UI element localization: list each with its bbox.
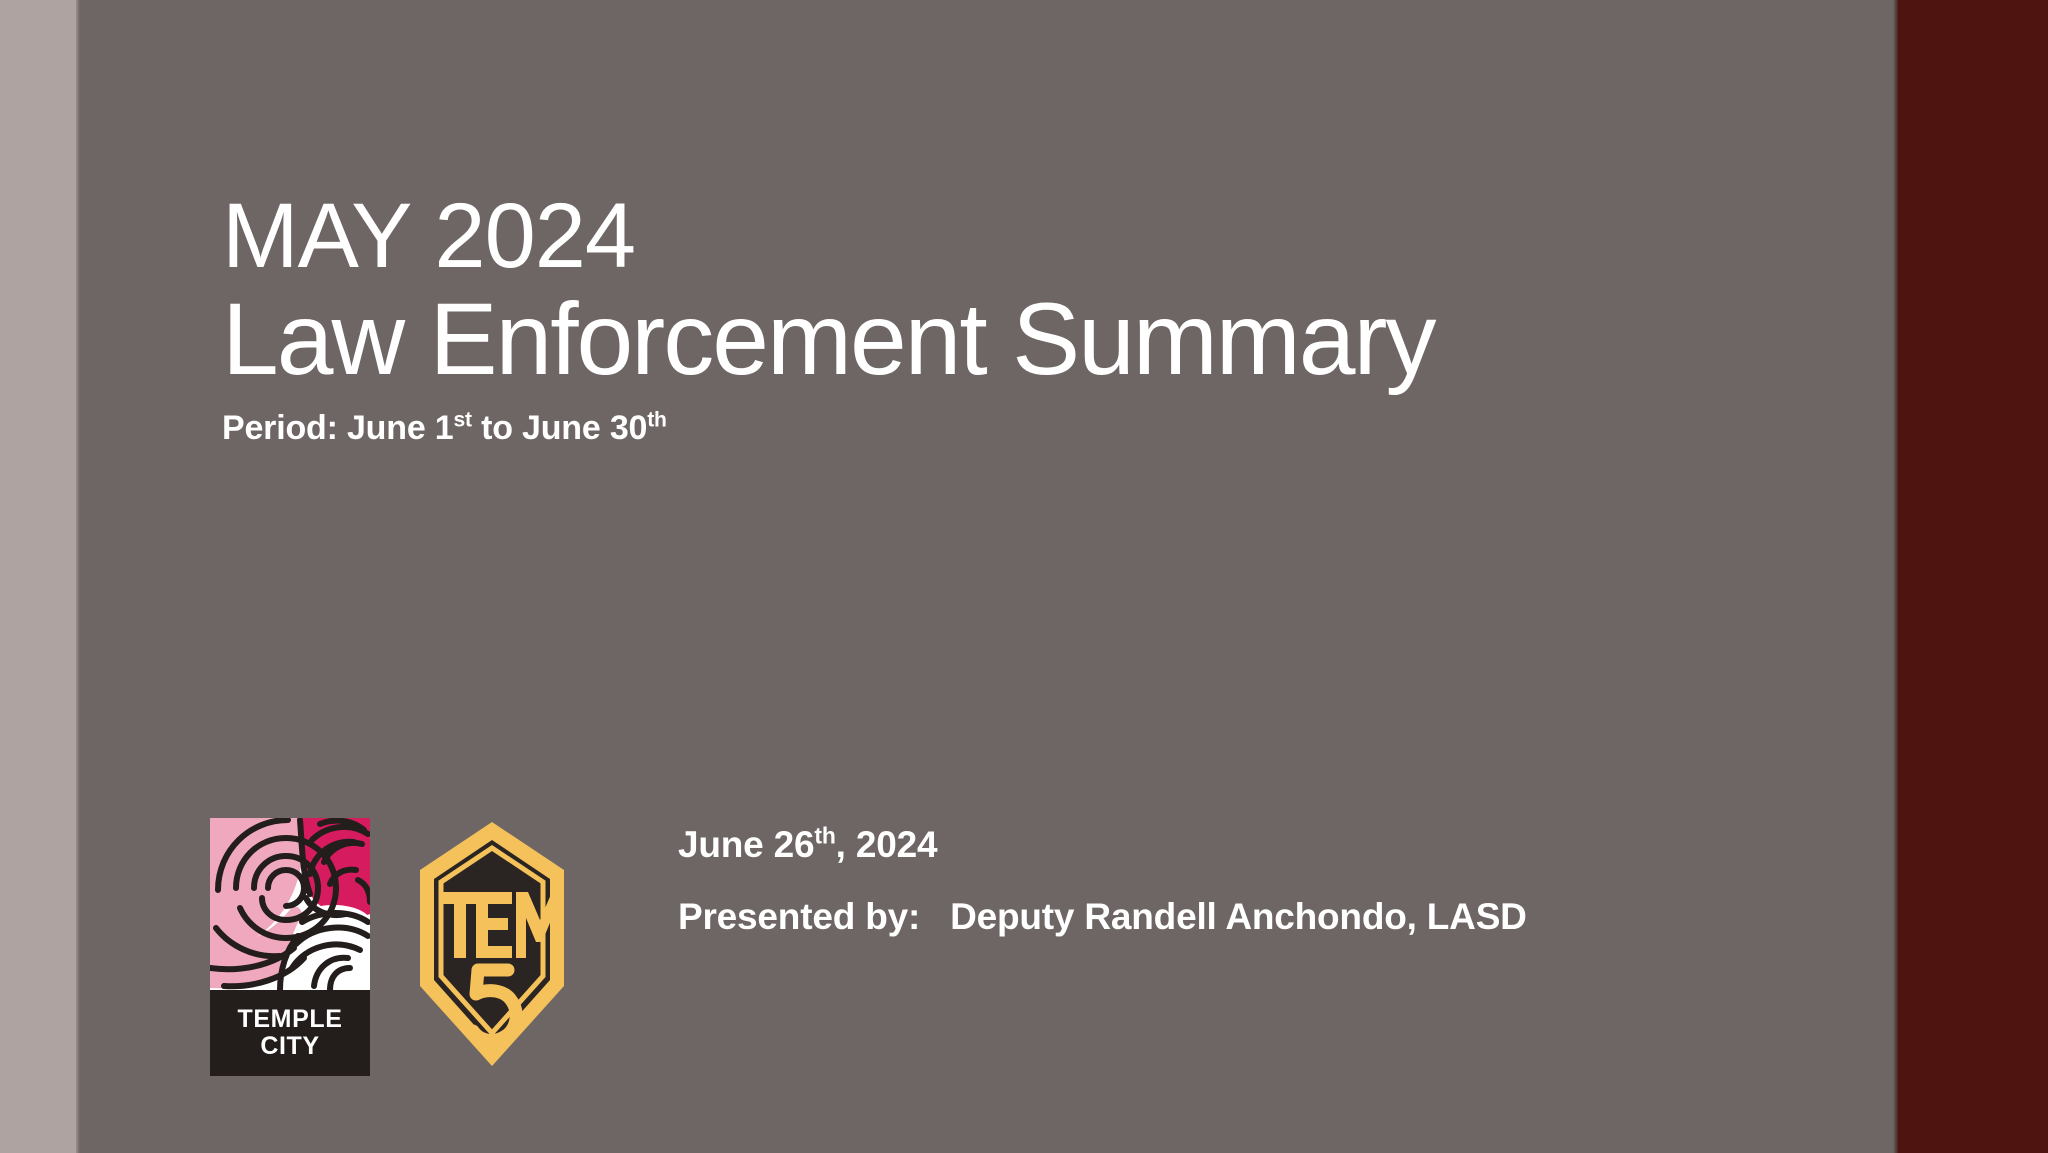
- presenter-name: Deputy Randell Anchondo, LASD: [950, 896, 1527, 937]
- period-prefix: Period: June 1: [222, 409, 453, 447]
- reporting-period: Period: June 1st to June 30th: [222, 408, 1722, 449]
- temple-city-rose-icon: [210, 818, 370, 990]
- left-accent-band: [0, 0, 76, 1153]
- presentation-date-suffix: , 2024: [836, 824, 938, 865]
- slide-title-line-1: MAY 2024: [222, 185, 1722, 288]
- temple-city-wordmark-line2: CITY: [260, 1033, 319, 1060]
- period-ordinal-first: st: [453, 409, 471, 432]
- period-ordinal-last: th: [647, 409, 667, 432]
- byline-block: June 26th, 2024 Presented by:Deputy Rand…: [678, 818, 1527, 938]
- slide-title-line-2: Law Enforcement Summary: [222, 282, 1722, 396]
- presentation-date-prefix: June 26: [678, 824, 814, 865]
- right-accent-band: [1898, 0, 2048, 1153]
- presentation-slide: MAY 2024 Law Enforcement Summary Period:…: [0, 0, 2048, 1153]
- temple-city-logo: TEMPLE CITY: [210, 818, 370, 1076]
- temple-city-wordmark-line1: TEMPLE: [238, 1006, 343, 1033]
- footer-row: TEMPLE CITY: [210, 818, 1527, 1076]
- tem5-badge-logo: [416, 818, 568, 1070]
- temple-city-wordmark: TEMPLE CITY: [210, 990, 370, 1076]
- title-block: MAY 2024 Law Enforcement Summary Period:…: [222, 185, 1722, 449]
- period-middle: to June 30: [472, 409, 647, 447]
- presented-by-label: Presented by:: [678, 896, 920, 937]
- presentation-date-ordinal: th: [814, 823, 835, 849]
- left-accent-band-edge: [76, 0, 80, 1153]
- presenter-line: Presented by:Deputy Randell Anchondo, LA…: [678, 896, 1527, 938]
- presentation-date: June 26th, 2024: [678, 824, 1527, 866]
